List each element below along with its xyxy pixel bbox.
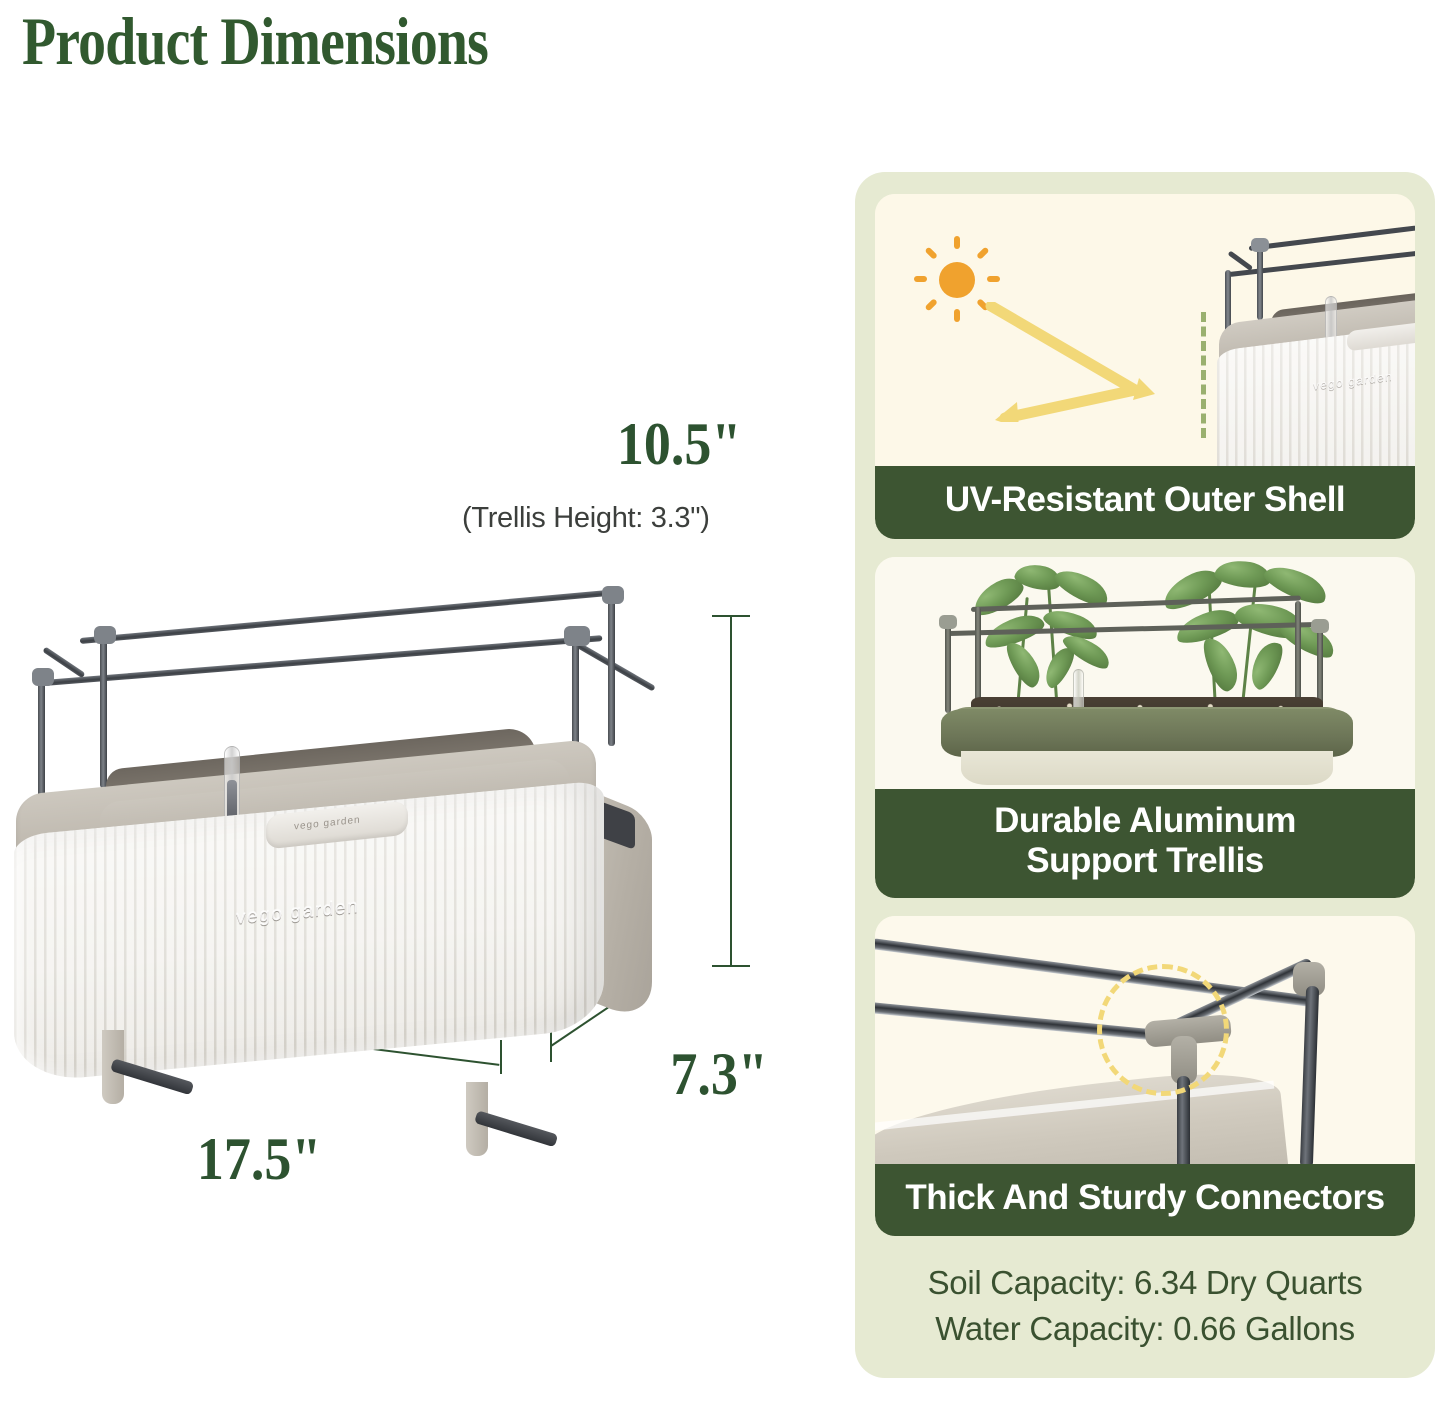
dashed-circle-highlight <box>1097 964 1229 1096</box>
card2-trellis-post-left-back <box>975 607 981 707</box>
dimension-cap-height-bottom <box>712 965 750 967</box>
card1-trellis-joint-left <box>1251 238 1269 252</box>
card2-planter-base <box>961 751 1333 785</box>
uv-arrow-icon <box>985 302 1205 422</box>
card2-trellis-post-right-back <box>1295 601 1301 705</box>
feature-panel: vego garden UV-Resistant Outer Shell <box>855 172 1435 1378</box>
trellis-bar-right-side <box>577 642 656 691</box>
water-capacity-text: Water Capacity: 0.66 Gallons <box>875 1306 1415 1352</box>
capacity-block: Soil Capacity: 6.34 Dry Quarts Water Cap… <box>875 1254 1415 1373</box>
dimension-cap-height-top <box>712 615 750 617</box>
feature-card-3-media <box>875 916 1415 1164</box>
sun-ray <box>924 298 937 311</box>
card1-trellis-post-back-left <box>1257 246 1263 320</box>
trellis-joint-back-right <box>602 586 624 604</box>
trellis-post-back-right <box>608 596 615 746</box>
feature-card-uv-shell[interactable]: vego garden UV-Resistant Outer Shell <box>875 194 1415 539</box>
sun-ray <box>914 276 927 282</box>
feature-caption-connectors: Thick And Sturdy Connectors <box>875 1164 1415 1237</box>
sun-ray <box>987 276 1000 282</box>
dimension-line-height <box>730 615 732 967</box>
plant-leaf <box>1199 633 1243 695</box>
card3-trellis-tube-upper <box>875 938 1318 1008</box>
card1-trellis-bar-back <box>1249 212 1415 251</box>
sun-ray <box>924 246 937 259</box>
feature-card-connectors[interactable]: Thick And Sturdy Connectors <box>875 916 1415 1237</box>
product-photo-main: vego garden vego garden <box>8 530 708 1130</box>
feature-card-1-media: vego garden <box>875 194 1415 466</box>
trellis-connector-closeup-photo <box>875 916 1415 1164</box>
page-title: Product Dimensions <box>22 2 488 81</box>
soil-capacity-text: Soil Capacity: 6.34 Dry Quarts <box>875 1260 1415 1306</box>
trellis-joint-front-left <box>32 668 54 686</box>
feature-card-2-media <box>875 557 1415 789</box>
dimension-label-height: 10.5" <box>617 410 741 479</box>
sun-ray <box>954 309 960 322</box>
card2-trellis-joint-left <box>939 615 957 629</box>
feature-card-trellis[interactable]: Durable Aluminum Support Trellis <box>875 557 1415 898</box>
planter-with-sage-plants-photo <box>875 557 1415 789</box>
feature-caption-trellis-line2: Support Trellis <box>885 841 1405 882</box>
plant-leaf <box>1244 637 1289 692</box>
trellis-joint-front-right <box>564 626 590 646</box>
feature-caption-trellis: Durable Aluminum Support Trellis <box>875 789 1415 898</box>
card1-water-gauge <box>1325 296 1337 342</box>
card3-planter-top-surface <box>875 1064 1290 1164</box>
card2-trellis-joint-right <box>1311 619 1329 633</box>
trellis-post-back-left <box>100 638 107 788</box>
card2-planter-tray <box>941 709 1353 757</box>
dimension-label-width: 17.5" <box>197 1125 321 1194</box>
card2-trellis-post-left-front <box>945 621 951 713</box>
planter-angled-photo: vego garden <box>1205 202 1415 466</box>
sun-ray <box>976 246 989 259</box>
feature-caption-trellis-line1: Durable Aluminum <box>885 801 1405 842</box>
sun-core <box>939 262 975 298</box>
trellis-joint-back-left <box>94 626 116 644</box>
sun-ray <box>954 236 960 249</box>
trellis-bar-back-top <box>80 589 618 644</box>
dimension-figure: 10.5" (Trellis Height: 3.3") 17.5" 7.3" <box>0 110 840 1340</box>
card1-trellis-bar-left <box>1228 250 1254 271</box>
card3-trellis-post-right <box>1300 986 1319 1164</box>
trellis-bar-front-top <box>44 635 603 686</box>
feature-caption-uv-shell: UV-Resistant Outer Shell <box>875 466 1415 539</box>
